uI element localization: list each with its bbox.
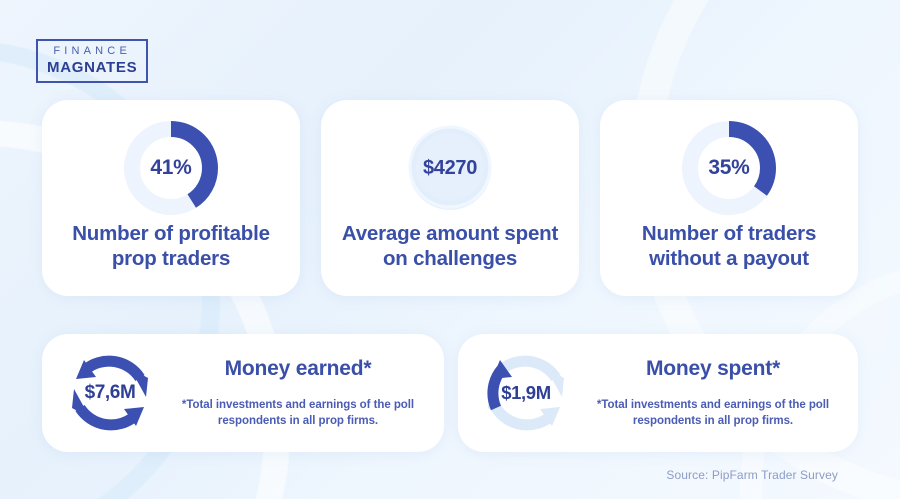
coin-value-4270: $4270 (398, 116, 502, 220)
stat-card-profitable-prop-traders: 41% Number of profitable prop traders (42, 100, 300, 296)
cycle-arrows-icon-earned: $7,6M (62, 345, 158, 441)
card-title-traders-without-payout: Number of traders without a payout (600, 221, 858, 272)
note-money-earned: *Total investments and earnings of the p… (162, 397, 434, 430)
card-title-average-amount-spent: Average amount spent on challenges (321, 221, 579, 272)
stat-card-average-amount-spent: $4270 Average amount spent on challenges (321, 100, 579, 296)
money-earned-text-block: Money earned* *Total investments and ear… (158, 357, 444, 430)
donut-chart-41: 41% (119, 116, 223, 220)
money-spent-text-block: Money spent* *Total investments and earn… (574, 357, 858, 430)
cycle-value-money-spent: $1,9M (478, 345, 574, 441)
stat-card-traders-without-payout: 35% Number of traders without a payout (600, 100, 858, 296)
heading-money-spent: Money spent* (578, 357, 848, 381)
stat-card-money-earned: $7,6M Money earned* *Total investments a… (42, 334, 444, 452)
heading-money-earned: Money earned* (162, 357, 434, 381)
logo-line-finance: FINANCE (47, 46, 137, 57)
cycle-arrows-icon-spent: $1,9M (478, 345, 574, 441)
donut-value-41: 41% (119, 116, 223, 220)
finance-magnates-logo: FINANCE MAGNATES (36, 39, 148, 83)
logo-line-magnates: MAGNATES (47, 60, 137, 75)
stat-card-money-spent: $1,9M Money spent* *Total investments an… (458, 334, 858, 452)
infographic-stage: FINANCE MAGNATES 41% Number of profitabl… (0, 0, 900, 499)
source-credit: Source: PipFarm Trader Survey (666, 468, 838, 482)
donut-chart-35: 35% (677, 116, 781, 220)
coin-badge-4270: $4270 (398, 116, 502, 220)
card-title-profitable-prop-traders: Number of profitable prop traders (42, 221, 300, 272)
donut-value-35: 35% (677, 116, 781, 220)
cycle-value-money-earned: $7,6M (62, 345, 158, 441)
note-money-spent: *Total investments and earnings of the p… (578, 397, 848, 430)
